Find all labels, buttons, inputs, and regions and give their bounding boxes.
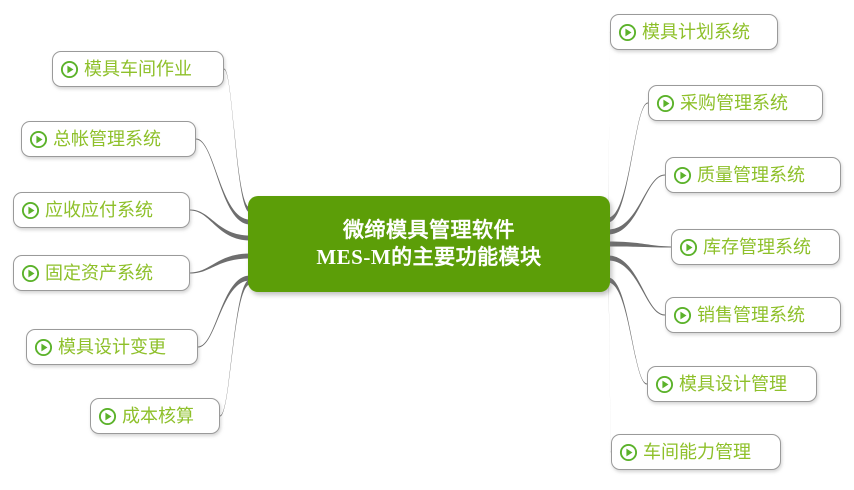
branch-node-label: 总帐管理系统 (53, 130, 161, 148)
central-node[interactable]: 微缔模具管理软件 MES-M的主要功能模块 (248, 196, 610, 292)
branch-node-left-3[interactable]: 固定资产系统 (13, 255, 190, 291)
branch-node-left-4[interactable]: 模具设计变更 (26, 329, 198, 365)
connector (608, 174, 665, 234)
branch-node-label: 车间能力管理 (643, 443, 751, 461)
play-circle-icon (673, 166, 692, 185)
play-circle-icon (21, 201, 40, 220)
branch-node-label: 应收应付系统 (45, 201, 153, 219)
connector (196, 138, 250, 224)
branch-node-right-3[interactable]: 库存管理系统 (671, 229, 840, 265)
branch-node-right-5[interactable]: 模具设计管理 (647, 366, 817, 402)
branch-node-right-0[interactable]: 模具计划系统 (610, 14, 778, 50)
branch-node-right-6[interactable]: 车间能力管理 (611, 434, 781, 470)
play-circle-icon (655, 375, 674, 394)
connector (198, 276, 250, 348)
play-circle-icon (34, 338, 53, 357)
play-circle-icon (656, 94, 675, 113)
connector (608, 278, 647, 385)
branch-node-right-4[interactable]: 销售管理系统 (665, 297, 841, 333)
branch-node-label: 模具设计变更 (58, 338, 166, 356)
branch-node-label: 模具计划系统 (642, 23, 750, 41)
branch-node-right-1[interactable]: 采购管理系统 (648, 85, 823, 121)
connector (224, 68, 250, 212)
branch-node-left-2[interactable]: 应收应付系统 (13, 192, 190, 228)
play-circle-icon (21, 264, 40, 283)
branch-node-label: 销售管理系统 (697, 306, 805, 324)
branch-node-label: 采购管理系统 (680, 94, 788, 112)
play-circle-icon (673, 306, 692, 325)
connector (190, 254, 250, 274)
play-circle-icon (619, 443, 638, 462)
branch-node-label: 模具车间作业 (84, 60, 192, 78)
branch-node-label: 固定资产系统 (45, 264, 153, 282)
central-node-label: 微缔模具管理软件 MES-M的主要功能模块 (316, 217, 541, 271)
branch-node-left-5[interactable]: 成本核算 (90, 398, 220, 434)
branch-node-label: 模具设计管理 (679, 375, 787, 393)
connector (220, 280, 250, 417)
branch-node-left-1[interactable]: 总帐管理系统 (21, 121, 196, 157)
branch-node-left-0[interactable]: 模具车间作业 (52, 51, 224, 87)
play-circle-icon (60, 60, 79, 79)
branch-node-label: 库存管理系统 (703, 238, 811, 256)
branch-node-label: 成本核算 (122, 407, 194, 425)
branch-node-label: 质量管理系统 (697, 166, 805, 184)
connector (608, 102, 648, 222)
connector (608, 242, 671, 248)
play-circle-icon (618, 23, 637, 42)
connector (608, 31, 610, 210)
mindmap-canvas: 微缔模具管理软件 MES-M的主要功能模块 模具车间作业总帐管理系统应收应付系统… (0, 0, 854, 490)
play-circle-icon (98, 407, 117, 426)
connector (608, 256, 665, 316)
play-circle-icon (679, 238, 698, 257)
connector (608, 282, 611, 453)
branch-node-right-2[interactable]: 质量管理系统 (665, 157, 841, 193)
connector (190, 209, 250, 240)
play-circle-icon (29, 130, 48, 149)
